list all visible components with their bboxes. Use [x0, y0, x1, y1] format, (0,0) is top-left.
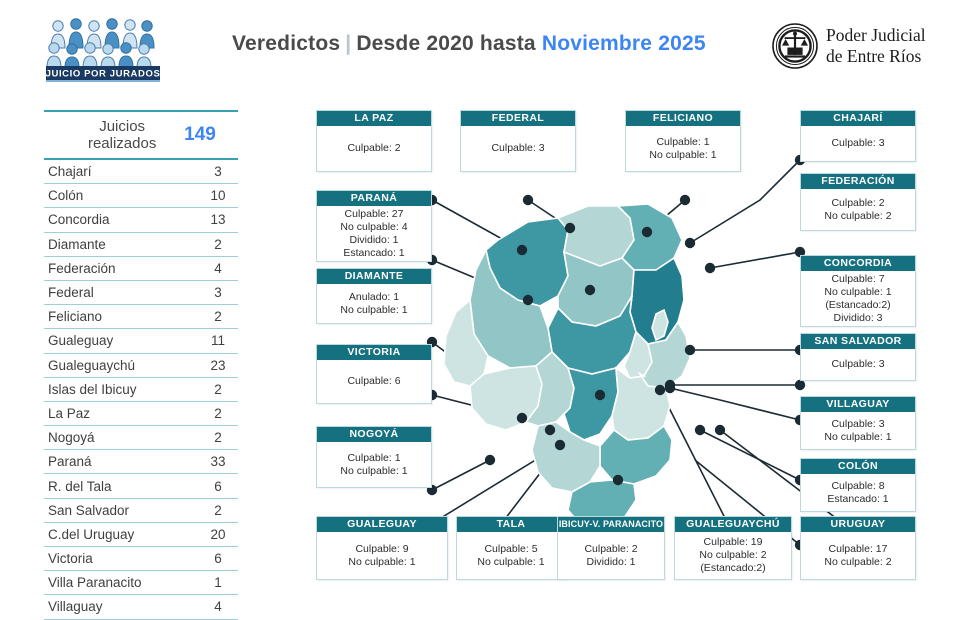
table-row-name: Chajarí: [44, 164, 198, 179]
table-row: Victoria6: [44, 547, 238, 571]
card-title: GUALEGUAYCHÚ: [675, 517, 791, 532]
card-title: TALA: [457, 517, 565, 532]
table-row: San Salvador2: [44, 499, 238, 523]
card-body: Culpable: 3: [801, 349, 915, 380]
table-row: Federación4: [44, 257, 238, 281]
card-body: Culpable: 3No culpable: 1: [801, 412, 915, 449]
dot-tala: [595, 390, 605, 400]
table-row-value: 6: [198, 479, 238, 494]
dot-concordia: [685, 345, 695, 355]
table-row: Villaguay4: [44, 595, 238, 619]
region-tala: [564, 368, 618, 440]
table-row-name: Paraná: [44, 454, 198, 469]
dot-nogoya: [485, 455, 495, 465]
table-row: Nogoyá2: [44, 426, 238, 450]
juicio-por-jurados-logo: JUICIO POR JURADOS: [45, 14, 161, 84]
card-title: FEDERACIÓN: [801, 174, 915, 189]
table-body: Chajarí3Colón10Concordia13Diamante2Feder…: [44, 160, 238, 620]
dot-uruguay: [715, 425, 725, 435]
dot-federacion-b: [705, 263, 715, 273]
card-feliciano[interactable]: FELICIANO Culpable: 1No culpable: 1: [625, 110, 741, 172]
entre-rios-map: [444, 204, 690, 528]
card-body: Culpable: 9No culpable: 1: [317, 532, 447, 579]
card-body: Culpable: 2: [317, 126, 431, 171]
table-row: Colón10: [44, 184, 238, 208]
card-chajari[interactable]: CHAJARÍ Culpable: 3: [800, 110, 916, 162]
card-tala[interactable]: TALA Culpable: 5No culpable: 1: [456, 516, 566, 580]
institution-name: Poder Judicial de Entre Ríos: [826, 25, 926, 67]
map-and-callouts: LA PAZ Culpable: 2 FEDERAL Culpable: 3 F…: [300, 100, 960, 600]
table-row-name: San Salvador: [44, 503, 198, 518]
table-row: Concordia13: [44, 208, 238, 232]
card-title: SAN SALVADOR: [801, 334, 915, 349]
card-title: DIAMANTE: [317, 269, 431, 284]
table-row: Federal3: [44, 281, 238, 305]
card-title: URUGUAY: [801, 517, 915, 532]
title-separator: |: [340, 32, 356, 55]
table-row-name: Victoria: [44, 551, 198, 566]
institution-line-1: Poder Judicial: [826, 25, 926, 46]
table-row-name: Gualeguaychú: [44, 358, 198, 373]
dot-chajari: [685, 238, 695, 248]
page-title: Veredictos|Desde 2020 hasta Noviembre 20…: [232, 30, 706, 58]
table-row-value: 6: [198, 551, 238, 566]
card-body: Culpable: 3: [801, 126, 915, 161]
dot-diamante: [545, 425, 555, 435]
title-range: Desde 2020 hasta: [356, 32, 535, 55]
dot-gualeguaychu: [655, 385, 665, 395]
page-header: JUICIO POR JURADOS Veredictos|Desde 2020…: [0, 0, 960, 95]
card-body: Culpable: 7No culpable: 1(Estancado:2)Di…: [801, 271, 915, 326]
table-row-name: Concordia: [44, 212, 198, 227]
institution-line-2: de Entre Ríos: [826, 46, 926, 67]
card-body: Culpable: 2No culpable: 2: [801, 189, 915, 230]
table-title: Juicios realizados: [66, 118, 178, 152]
card-body: Culpable: 19No culpable: 2(Estancado:2): [675, 532, 791, 579]
table-row: Feliciano2: [44, 305, 238, 329]
card-title: FEDERAL: [461, 111, 575, 126]
table-row-value: 4: [198, 599, 238, 614]
table-row: Islas del Ibicuy2: [44, 378, 238, 402]
logo-caption: JUICIO POR JURADOS: [46, 69, 161, 80]
table-row-name: Federal: [44, 285, 198, 300]
dot-victoria: [517, 413, 527, 423]
dot-la-paz: [517, 245, 527, 255]
table-row-name: Diamante: [44, 237, 198, 252]
table-row-value: 23: [198, 358, 238, 373]
card-victoria[interactable]: VICTORIA Culpable: 6: [316, 344, 432, 404]
dot-villaguay: [665, 383, 675, 393]
card-body: Culpable: 5No culpable: 1: [457, 532, 565, 579]
table-row-value: 11: [198, 333, 238, 348]
juicios-realizados-table: Juicios realizados 149 Chajarí3Colón10Co…: [44, 110, 238, 620]
card-body: Culpable: 27No culpable: 4Dividido: 1Est…: [317, 206, 431, 261]
card-san-salvador[interactable]: SAN SALVADOR Culpable: 3: [800, 333, 916, 381]
table-row-value: 13: [198, 212, 238, 227]
table-row-value: 2: [198, 503, 238, 518]
card-title: CHAJARÍ: [801, 111, 915, 126]
card-la-paz[interactable]: LA PAZ Culpable: 2: [316, 110, 432, 172]
table-row-value: 10: [198, 188, 238, 203]
card-body: Culpable: 17No culpable: 2: [801, 532, 915, 579]
table-row-value: 3: [198, 164, 238, 179]
dot-gualeguay: [555, 440, 565, 450]
table-row-value: 3: [198, 285, 238, 300]
dot-parana: [523, 295, 533, 305]
table-row-name: Nogoyá: [44, 430, 198, 445]
card-federal[interactable]: FEDERAL Culpable: 3: [460, 110, 576, 172]
card-title: VICTORIA: [317, 345, 431, 360]
table-row-name: Feliciano: [44, 309, 198, 324]
card-title: CONCORDIA: [801, 256, 915, 271]
card-body: Culpable: 1No culpable: 1: [317, 442, 431, 487]
card-concordia[interactable]: CONCORDIA Culpable: 7No culpable: 1(Esta…: [800, 255, 916, 327]
card-title: GUALEGUAY: [317, 517, 447, 532]
poder-judicial-logo: Poder Judicial de Entre Ríos: [772, 23, 952, 73]
table-row: Gualeguaychú23: [44, 354, 238, 378]
card-title: PARANÁ: [317, 191, 431, 206]
table-row: Paraná33: [44, 450, 238, 474]
table-row-value: 2: [198, 382, 238, 397]
table-row-name: Colón: [44, 188, 198, 203]
card-uruguay[interactable]: URUGUAY Culpable: 17No culpable: 2: [800, 516, 916, 580]
title-highlight: Noviembre 2025: [542, 32, 706, 55]
card-gualeguay[interactable]: GUALEGUAY Culpable: 9No culpable: 1: [316, 516, 448, 580]
table-row-name: Federación: [44, 261, 198, 276]
table-row-name: Villaguay: [44, 599, 198, 614]
card-body: Culpable: 6: [317, 360, 431, 403]
table-row: C.del Uruguay20: [44, 523, 238, 547]
card-diamante[interactable]: DIAMANTE Anulado: 1No culpable: 1: [316, 268, 432, 324]
table-total: 149: [184, 124, 216, 146]
table-row-name: Islas del Ibicuy: [44, 382, 198, 397]
table-row-value: 2: [198, 309, 238, 324]
table-row-value: 33: [198, 454, 238, 469]
card-body: Culpable: 8Estancado: 1: [801, 474, 915, 511]
dot-federacion: [642, 227, 652, 237]
table-row-value: 1: [198, 575, 238, 590]
card-nogoya[interactable]: NOGOYÁ Culpable: 1No culpable: 1: [316, 426, 432, 488]
table-row-name: C.del Uruguay: [44, 527, 198, 542]
card-federacion[interactable]: FEDERACIÓN Culpable: 2No culpable: 2: [800, 173, 916, 231]
card-title: LA PAZ: [317, 111, 431, 126]
table-row-value: 20: [198, 527, 238, 542]
card-body: Culpable: 3: [461, 126, 575, 171]
card-gualeguaychu[interactable]: GUALEGUAYCHÚ Culpable: 19No culpable: 2(…: [674, 516, 792, 580]
card-colon[interactable]: COLÓN Culpable: 8Estancado: 1: [800, 458, 916, 512]
card-villaguay[interactable]: VILLAGUAY Culpable: 3No culpable: 1: [800, 396, 916, 450]
card-body: Anulado: 1No culpable: 1: [317, 284, 431, 323]
table-row: Gualeguay11: [44, 329, 238, 353]
card-body: Culpable: 1No culpable: 1: [626, 126, 740, 171]
table-header: Juicios realizados 149: [44, 110, 238, 160]
table-row-value: 2: [198, 430, 238, 445]
card-title: FELICIANO: [626, 111, 740, 126]
table-row-name: Gualeguay: [44, 333, 198, 348]
table-row-name: La Paz: [44, 406, 198, 421]
card-title: NOGOYÁ: [317, 427, 431, 442]
dot-feliciano: [565, 223, 575, 233]
table-row-value: 2: [198, 406, 238, 421]
table-row-value: 2: [198, 237, 238, 252]
table-row: Villa Paranacito1: [44, 571, 238, 595]
dot-federal: [585, 285, 595, 295]
table-row-name: Villa Paranacito: [44, 575, 198, 590]
title-main: Veredictos: [232, 32, 340, 55]
table-row: R. del Tala6: [44, 474, 238, 498]
card-title: VILLAGUAY: [801, 397, 915, 412]
card-title: IBICUY-V. PARANACITO: [558, 517, 664, 532]
table-row-value: 4: [198, 261, 238, 276]
scales-of-justice-seal-icon: [772, 23, 818, 69]
dot-ibicuy: [613, 475, 623, 485]
card-parana[interactable]: PARANÁ Culpable: 27No culpable: 4Dividid…: [316, 190, 432, 262]
table-row: Diamante2: [44, 233, 238, 257]
dot-colon: [695, 425, 705, 435]
table-row: La Paz2: [44, 402, 238, 426]
table-row-name: R. del Tala: [44, 479, 198, 494]
table-row: Chajarí3: [44, 160, 238, 184]
card-title: COLÓN: [801, 459, 915, 474]
card-ibicuy-villa-paranacito[interactable]: IBICUY-V. PARANACITO Culpable: 2Dividido…: [557, 516, 665, 580]
card-body: Culpable: 2Dividido: 1: [558, 532, 664, 579]
